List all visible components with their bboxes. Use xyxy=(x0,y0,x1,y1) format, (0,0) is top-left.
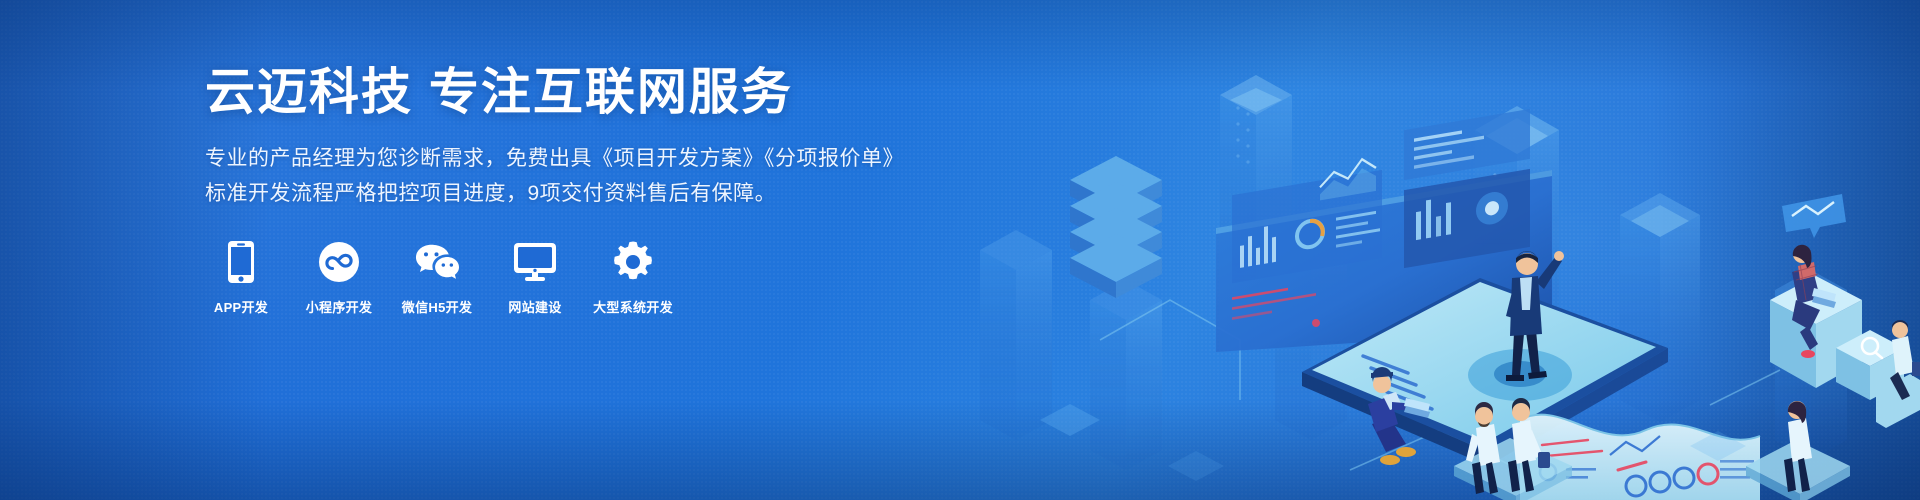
service-item-miniprogram[interactable]: 小程序开发 xyxy=(303,240,375,316)
page-title: 云迈科技 专注互联网服务 xyxy=(205,64,904,120)
gear-icon xyxy=(611,240,655,284)
mobile-phone-icon xyxy=(219,240,263,284)
service-item-wechat[interactable]: 微信H5开发 xyxy=(401,240,473,316)
service-list: APP开发 小程序开发 xyxy=(205,240,904,316)
server-stack xyxy=(1070,156,1162,298)
service-item-website[interactable]: 网站建设 xyxy=(499,240,571,316)
service-label: 微信H5开发 xyxy=(402,297,472,316)
isometric-tech-illustration xyxy=(920,0,1920,500)
hero-banner: 云迈科技 专注互联网服务 专业的产品经理为您诊断需求，免费出具《项目开发方案》《… xyxy=(0,0,1920,500)
service-label: 大型系统开发 xyxy=(593,297,673,316)
banner-copy: 云迈科技 专注互联网服务 专业的产品经理为您诊断需求，免费出具《项目开发方案》《… xyxy=(205,64,904,316)
service-item-system[interactable]: 大型系统开发 xyxy=(597,240,669,316)
banner-subtitle: 专业的产品经理为您诊断需求，免费出具《项目开发方案》《分项报价单》 标准开发流程… xyxy=(205,142,904,210)
chat-bubble-chart xyxy=(1782,194,1846,238)
wechat-icon xyxy=(415,240,459,284)
monitor-icon xyxy=(513,240,557,284)
subtitle-line-1: 专业的产品经理为您诊断需求，免费出具《项目开发方案》《分项报价单》 xyxy=(205,142,904,175)
service-label: 网站建设 xyxy=(508,297,561,316)
service-label: 小程序开发 xyxy=(306,297,373,316)
mini-program-icon xyxy=(317,240,361,284)
service-label: APP开发 xyxy=(214,297,268,316)
service-item-app[interactable]: APP开发 xyxy=(205,240,277,316)
subtitle-line-2: 标准开发流程严格把控项目进度，9项交付资料售后有保障。 xyxy=(205,177,904,210)
